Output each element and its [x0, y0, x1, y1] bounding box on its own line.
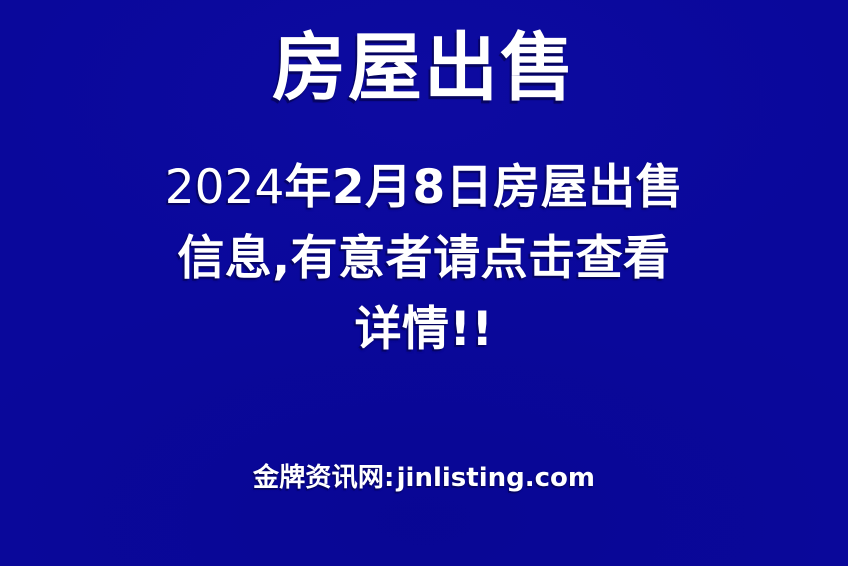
announcement-line-1: 2024年2月8日房屋出售	[0, 152, 848, 223]
poster-content: 房屋出售 2024年2月8日房屋出售 信息,有意者请点击查看 详情!! 金牌资讯…	[0, 0, 848, 566]
page-title: 房屋出售	[0, 26, 848, 110]
announcement-line-2: 信息,有意者请点击查看	[0, 223, 848, 294]
announcement-line-3: 详情!!	[0, 294, 848, 365]
announcement-line-2-text: 信息,有意者请点击查看	[177, 231, 670, 286]
site-name-label: 金牌资讯网:	[253, 463, 395, 493]
announcement-line-1-number: 2024	[165, 160, 285, 215]
site-url-label: jinlisting.com	[397, 463, 595, 493]
announcement-line-3-text: 详情!!	[355, 302, 494, 357]
poster-canvas: 房屋出售 2024年2月8日房屋出售 信息,有意者请点击查看 详情!! 金牌资讯…	[0, 0, 848, 566]
site-watermark: 金牌资讯网:jinlisting.com	[0, 462, 848, 494]
announcement-line-1-text: 年2月8日房屋出售	[284, 160, 683, 215]
announcement-body: 2024年2月8日房屋出售 信息,有意者请点击查看 详情!!	[0, 152, 848, 365]
